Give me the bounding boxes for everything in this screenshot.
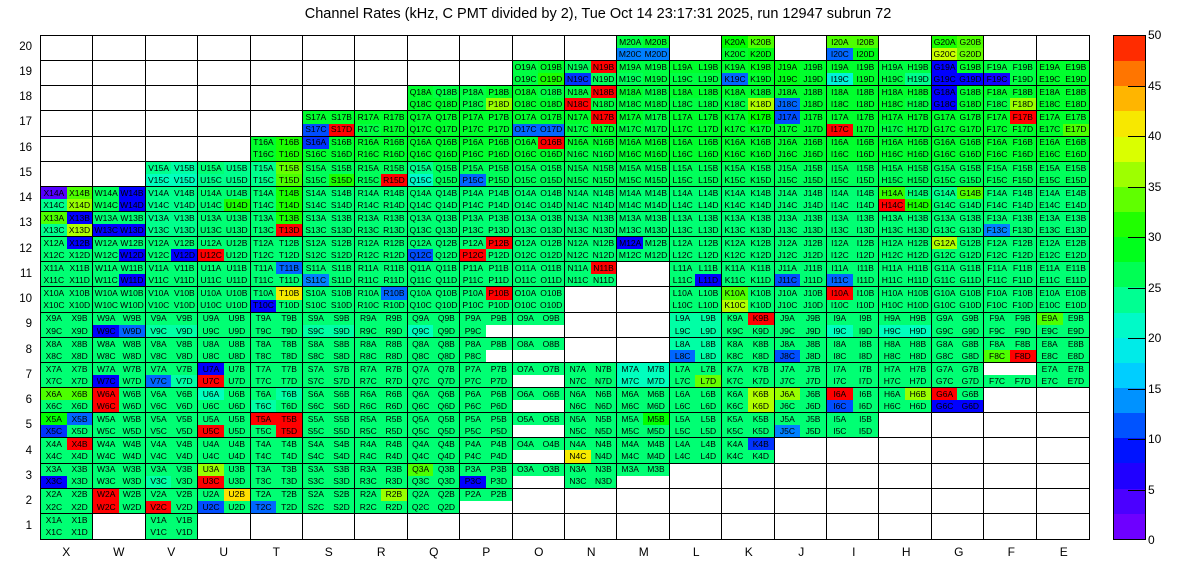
channel-J9A: J9A [775, 313, 801, 325]
channel-U1C [198, 526, 224, 539]
channel-R5D: R5D [381, 425, 407, 437]
grid-cell-X14: X14AX14BX14CX14D [41, 187, 93, 212]
channel-H14B: H14B [905, 187, 931, 199]
channel-T17B [276, 111, 302, 123]
channel-J1D [800, 526, 826, 539]
channel-V12C: V12C [146, 249, 172, 261]
channel-R10A: R10A [355, 287, 381, 299]
grid-cell-T11: T11AT11BT11CT11D [251, 262, 303, 287]
x-tick-O: O [513, 545, 566, 559]
channel-X11A: X11A [41, 262, 67, 274]
channel-U1D [224, 526, 250, 539]
channel-N9B [591, 313, 617, 325]
channel-P7D: P7D [486, 375, 512, 387]
channel-T11C: T11C [251, 274, 277, 286]
channel-X15A [41, 162, 67, 174]
grid-cell-X8: X8AX8BX8CX8D [41, 338, 93, 363]
channel-X12D: X12D [67, 249, 93, 261]
channel-R9A: R9A [355, 313, 381, 325]
channel-Q20D [433, 48, 459, 60]
channel-V20B [171, 36, 197, 48]
channel-M9A [617, 313, 643, 325]
channel-E14D: E14D [1063, 199, 1089, 211]
channel-G6C: G6C [932, 400, 958, 412]
grid-cell-K16: K16AK16BK16CK16D [722, 137, 774, 162]
channel-I10A: I10A [827, 287, 853, 299]
colorbar-tickmark [1128, 439, 1146, 440]
channel-G14D: G14D [957, 199, 983, 211]
grid-cell-X20 [41, 36, 93, 61]
grid-cell-M11 [617, 262, 669, 287]
channel-S5C: S5C [303, 425, 329, 437]
channel-Q6D: Q6D [433, 400, 459, 412]
channel-P4B: P4B [486, 438, 512, 450]
channel-T3A: T3A [251, 464, 277, 476]
channel-G9A: G9A [932, 313, 958, 325]
grid-cell-S17: S17AS17BS17CS17D [303, 111, 355, 136]
channel-S20C [303, 48, 329, 60]
channel-F3B [1010, 464, 1036, 476]
grid-cell-J3 [775, 464, 827, 489]
channel-F4A [984, 438, 1010, 450]
channel-P6D: P6D [486, 400, 512, 412]
channel-Q1A [408, 514, 434, 527]
grid-cell-K9: K9AK9BK9CK9D [722, 313, 774, 338]
channel-J10A: J10A [775, 287, 801, 299]
channel-I1B [853, 514, 879, 527]
channel-T14A: T14A [251, 187, 277, 199]
channel-V2A: V2A [146, 489, 172, 501]
channel-L20A [670, 36, 696, 48]
channel-R11B: R11B [381, 262, 407, 274]
channel-E19D: E19D [1063, 73, 1089, 85]
channel-N16B: N16B [591, 137, 617, 149]
channel-N11C: N11C [565, 274, 591, 286]
channel-E17B: E17B [1063, 111, 1089, 123]
channel-V13C: V13C [146, 224, 172, 236]
channel-X10D: X10D [67, 300, 93, 312]
grid-cell-J6: J6AJ6BJ6CJ6D [775, 388, 827, 413]
channel-T15D: T15D [276, 174, 302, 186]
channel-G1D [957, 526, 983, 539]
channel-T8C: T8C [251, 350, 277, 362]
channel-M16C: M16C [617, 149, 643, 161]
channel-U14B: U14B [224, 187, 250, 199]
channel-F11C: F11C [984, 274, 1010, 286]
colorbar-segment [1114, 237, 1145, 262]
channel-J9B: J9B [800, 313, 826, 325]
channel-E15C: E15C [1037, 174, 1063, 186]
grid-cell-F9: F9AF9BF9CF9D [984, 313, 1036, 338]
channel-H16B: H16B [905, 137, 931, 149]
grid-cell-J9: J9AJ9BJ9CJ9D [775, 313, 827, 338]
channel-M4B: M4B [643, 438, 669, 450]
channel-E16B: E16B [1063, 137, 1089, 149]
grid-cell-T12: T12AT12BT12CT12D [251, 237, 303, 262]
channel-P15C: P15C [460, 174, 486, 186]
channel-G12C: G12C [932, 249, 958, 261]
channel-W16B [119, 137, 145, 149]
channel-X8A: X8A [41, 338, 67, 350]
channel-X17C [41, 124, 67, 136]
channel-T9D: T9D [276, 325, 302, 337]
channel-N20D [591, 48, 617, 60]
channel-X20D [67, 48, 93, 60]
channel-K11B: K11B [748, 262, 774, 274]
channel-L8D: L8D [695, 350, 721, 362]
channel-V3B: V3B [171, 464, 197, 476]
grid-cell-N17: N17AN17BN17CN17D [565, 111, 617, 136]
channel-U1B [224, 514, 250, 527]
channel-J13B: J13B [800, 212, 826, 224]
channel-Q12B: Q12B [433, 237, 459, 249]
channel-L11C: L11C [670, 274, 696, 286]
channel-S14C: S14C [303, 199, 329, 211]
channel-I11C: I11C [827, 274, 853, 286]
channel-V12D: V12D [171, 249, 197, 261]
channel-J5A: J5A [775, 413, 801, 425]
grid-cell-I11: I11AI11BI11CI11D [827, 262, 879, 287]
channel-S1C [303, 526, 329, 539]
channel-J9D: J9D [800, 325, 826, 337]
grid-cell-M4: M4AM4BM4CM4D [617, 438, 669, 463]
channel-L4D: L4D [695, 450, 721, 462]
channel-K14C: K14C [722, 199, 748, 211]
channel-I20C: I20C [827, 48, 853, 60]
channel-I14A: I14A [827, 187, 853, 199]
channel-J15B: J15B [800, 162, 826, 174]
channel-K6D: K6D [748, 400, 774, 412]
channel-E9B: E9B [1063, 313, 1089, 325]
channel-Q16A: Q16A [408, 137, 434, 149]
channel-F4B [1010, 438, 1036, 450]
channel-R9C: R9C [355, 325, 381, 337]
channel-W12B: W12B [119, 237, 145, 249]
grid-cell-F12: F12AF12BF12CF12D [984, 237, 1036, 262]
grid-cell-M13: M13AM13BM13CM13D [617, 212, 669, 237]
channel-I2C [827, 501, 853, 513]
grid-cell-S1 [303, 514, 355, 539]
channel-L20C [670, 48, 696, 60]
channel-E11B: E11B [1063, 262, 1089, 274]
channel-X3C: X3C [41, 476, 67, 488]
channel-H4A [879, 438, 905, 450]
channel-S7D: S7D [329, 375, 355, 387]
channel-N14D: N14D [591, 199, 617, 211]
colorbar-segment [1114, 413, 1145, 438]
channel-E18A: E18A [1037, 86, 1063, 98]
channel-U19D [224, 73, 250, 85]
channel-S5D: S5D [329, 425, 355, 437]
grid-cell-U13: U13AU13BU13CU13D [198, 212, 250, 237]
channel-E20C [1037, 48, 1063, 60]
channel-F11A: F11A [984, 262, 1010, 274]
grid-cell-W1 [93, 514, 145, 539]
channel-R12D: R12D [381, 249, 407, 261]
channel-I6B: I6B [853, 388, 879, 400]
channel-F12D: F12D [1010, 249, 1036, 261]
channel-T1A [251, 514, 277, 527]
y-tick-14: 14 [2, 192, 32, 204]
channel-M13D: M13D [643, 224, 669, 236]
grid-cell-I20: I20AI20BI20CI20D [827, 36, 879, 61]
channel-Q3D: Q3D [433, 476, 459, 488]
channel-M3D [643, 476, 669, 488]
channel-F19C: F19C [984, 73, 1010, 85]
channel-L5A: L5A [670, 413, 696, 425]
channel-S8A: S8A [303, 338, 329, 350]
channel-M13A: M13A [617, 212, 643, 224]
channel-W12C: W12C [93, 249, 119, 261]
channel-K15A: K15A [722, 162, 748, 174]
grid-cell-I14: I14AI14BI14CI14D [827, 187, 879, 212]
channel-X2D: X2D [67, 501, 93, 513]
channel-O17D: O17D [538, 124, 564, 136]
channel-K20A: K20A [722, 36, 748, 48]
channel-X19C [41, 73, 67, 85]
channel-O2C [513, 501, 539, 513]
x-tick-L: L [670, 545, 723, 559]
channel-G15A: G15A [932, 162, 958, 174]
channel-E14C: E14C [1037, 199, 1063, 211]
channel-G7D: G7D [957, 375, 983, 387]
channel-R17C: R17C [355, 124, 381, 136]
grid-cell-V16 [146, 137, 198, 162]
channel-H9D: H9D [905, 325, 931, 337]
grid-cell-W11: W11AW11BW11CW11D [93, 262, 145, 287]
grid-cell-Q10: Q10AQ10BQ10CQ10D [408, 287, 460, 312]
grid-cell-X16 [41, 137, 93, 162]
channel-H8D: H8D [905, 350, 931, 362]
channel-R4D: R4D [381, 450, 407, 462]
channel-S6B: S6B [329, 388, 355, 400]
channel-M8B [643, 338, 669, 350]
grid-cell-V4: V4AV4BV4CV4D [146, 438, 198, 463]
channel-I3C [827, 476, 853, 488]
channel-F18A: F18A [984, 86, 1010, 98]
x-tick-P: P [460, 545, 513, 559]
channel-I15A: I15A [827, 162, 853, 174]
channel-I12B: I12B [853, 237, 879, 249]
channel-Q8B: Q8B [433, 338, 459, 350]
channel-W19C [93, 73, 119, 85]
channel-P12D: P12D [486, 249, 512, 261]
channel-U13B: U13B [224, 212, 250, 224]
grid-cell-H10: H10AH10BH10CH10D [879, 287, 931, 312]
channel-V12A: V12A [146, 237, 172, 249]
channel-X12C: X12C [41, 249, 67, 261]
channel-F1D [1010, 526, 1036, 539]
channel-V17A [146, 111, 172, 123]
grid-cell-M8 [617, 338, 669, 363]
channel-G8D: G8D [957, 350, 983, 362]
grid-cell-L18: L18AL18BL18CL18D [670, 86, 722, 111]
grid-cell-T18 [251, 86, 303, 111]
channel-M19B: M19B [643, 61, 669, 73]
channel-G3C [932, 476, 958, 488]
channel-U15C: U15C [198, 174, 224, 186]
channel-P15B: P15B [486, 162, 512, 174]
grid-cell-T20 [251, 36, 303, 61]
grid-cell-V19 [146, 61, 198, 86]
channel-R8C: R8C [355, 350, 381, 362]
grid-cell-K10: K10AK10BK10CK10D [722, 287, 774, 312]
channel-U19B [224, 61, 250, 73]
channel-J5B: J5B [800, 413, 826, 425]
channel-N19A: N19A [565, 61, 591, 73]
grid-cell-W17 [93, 111, 145, 136]
channel-G7C: G7C [932, 375, 958, 387]
channel-V11D: V11D [171, 274, 197, 286]
channel-M9C [617, 325, 643, 337]
channel-M11C [617, 274, 643, 286]
channel-H16A: H16A [879, 137, 905, 149]
grid-cell-S12: S12AS12BS12CS12D [303, 237, 355, 262]
channel-J1C [775, 526, 801, 539]
channel-X9D: X9D [67, 325, 93, 337]
channel-J11A: J11A [775, 262, 801, 274]
channel-V15C: V15C [146, 174, 172, 186]
channel-U4D: U4D [224, 450, 250, 462]
channel-S18C [303, 98, 329, 110]
channel-V16C [146, 149, 172, 161]
channel-L7C: L7C [670, 375, 696, 387]
channel-T5A: T5A [251, 413, 277, 425]
channel-O12C: O12C [513, 249, 539, 261]
channel-T3D: T3D [276, 476, 302, 488]
channel-V6A: V6A [146, 388, 172, 400]
colorbar-segment [1114, 86, 1145, 111]
channel-N19D: N19D [591, 73, 617, 85]
channel-P19D [486, 73, 512, 85]
grid-cell-N6: N6AN6BN6CN6D [565, 388, 617, 413]
channel-U11A: U11A [198, 262, 224, 274]
channel-N5D: N5D [591, 425, 617, 437]
channel-V10D: V10D [171, 300, 197, 312]
channel-X1C: X1C [41, 526, 67, 539]
grid-cell-J12: J12AJ12BJ12CJ12D [775, 237, 827, 262]
channel-S4D: S4D [329, 450, 355, 462]
channel-J18A: J18A [775, 86, 801, 98]
channel-T5C: T5C [251, 425, 277, 437]
channel-R15C: R15C [355, 174, 381, 186]
grid-cell-H2 [879, 489, 931, 514]
channel-L2B [695, 489, 721, 501]
channel-F13B: F13B [1010, 212, 1036, 224]
channel-W17C [93, 124, 119, 136]
grid-cell-X7: X7AX7BX7CX7D [41, 363, 93, 388]
channel-W8C: W8C [93, 350, 119, 362]
grid-cell-H9: H9AH9BH9CH9D [879, 313, 931, 338]
channel-S13C: S13C [303, 224, 329, 236]
channel-V15B: V15B [171, 162, 197, 174]
channel-E5D [1063, 425, 1089, 437]
channel-L15C: L15C [670, 174, 696, 186]
grid-cell-F3 [984, 464, 1036, 489]
channel-J11D: J11D [800, 274, 826, 286]
channel-R19D [381, 73, 407, 85]
channel-K12C: K12C [722, 249, 748, 261]
channel-E19A: E19A [1037, 61, 1063, 73]
y-tick-17: 17 [2, 116, 32, 128]
channel-E7B: E7B [1063, 363, 1089, 375]
channel-W1C [93, 526, 119, 539]
grid-cell-G9: G9AG9BG9CG9D [932, 313, 984, 338]
channel-Q19B [433, 61, 459, 73]
grid-cell-R2: R2AR2BR2CR2D [355, 489, 407, 514]
channel-U15B: U15B [224, 162, 250, 174]
channel-R8B: R8B [381, 338, 407, 350]
grid-cell-W10: W10AW10BW10CW10D [93, 287, 145, 312]
channel-O1A [513, 514, 539, 527]
channel-G8B: G8B [957, 338, 983, 350]
channel-K17A: K17A [722, 111, 748, 123]
channel-K4D: K4D [748, 450, 774, 462]
grid-cell-I9: I9AI9BI9CI9D [827, 313, 879, 338]
channel-T16A: T16A [251, 137, 277, 149]
channel-R15B: R15B [381, 162, 407, 174]
channel-M11B [643, 262, 669, 274]
channel-V7B: V7B [171, 363, 197, 375]
grid-cell-O19: O19AO19BO19CO19D [513, 61, 565, 86]
grid-cell-E1 [1037, 514, 1089, 539]
colorbar-segment [1114, 61, 1145, 86]
channel-F8B: F8B [1010, 338, 1036, 350]
channel-I12A: I12A [827, 237, 853, 249]
grid-cell-Q17: Q17AQ17BQ17CQ17D [408, 111, 460, 136]
channel-K5D: K5D [748, 425, 774, 437]
channel-M15D: M15D [643, 174, 669, 186]
channel-P10A: P10A [460, 287, 486, 299]
channel-I6C: I6C [827, 400, 853, 412]
grid-cell-H12: H12AH12BH12CH12D [879, 237, 931, 262]
channel-Q13D: Q13D [433, 224, 459, 236]
grid-cell-S15: S15AS15BS15CS15D [303, 162, 355, 187]
channel-M6D: M6D [643, 400, 669, 412]
channel-X18C [41, 98, 67, 110]
grid-cell-S13: S13AS13BS13CS13D [303, 212, 355, 237]
channel-Q10A: Q10A [408, 287, 434, 299]
channel-M17D: M17D [643, 124, 669, 136]
channel-L13D: L13D [695, 224, 721, 236]
channel-L3D [695, 476, 721, 488]
channel-W20A [93, 36, 119, 48]
channel-H9B: H9B [905, 313, 931, 325]
grid-cell-J10: J10AJ10BJ10CJ10D [775, 287, 827, 312]
channel-U7B: U7B [224, 363, 250, 375]
channel-L19C: L19C [670, 73, 696, 85]
colorbar-segment [1114, 262, 1145, 287]
grid-cell-H14: H14AH14BH14CH14D [879, 187, 931, 212]
channel-P14D: P14D [486, 199, 512, 211]
colorbar-tick-50: 50 [1148, 28, 1161, 42]
channel-E6B [1063, 388, 1089, 400]
channel-P3A: P3A [460, 464, 486, 476]
channel-K8A: K8A [722, 338, 748, 350]
x-tick-W: W [93, 545, 146, 559]
channel-X4B: X4B [67, 438, 93, 450]
channel-T15B: T15B [276, 162, 302, 174]
grid-cell-U20 [198, 36, 250, 61]
channel-X20A [41, 36, 67, 48]
grid-cell-U6: U6AU6BU6CU6D [198, 388, 250, 413]
colorbar-segment [1114, 36, 1145, 61]
channel-X17B [67, 111, 93, 123]
grid-cell-U4: U4AU4BU4CU4D [198, 438, 250, 463]
grid-cell-L15: L15AL15BL15CL15D [670, 162, 722, 187]
channel-X16A [41, 137, 67, 149]
channel-V13A: V13A [146, 212, 172, 224]
